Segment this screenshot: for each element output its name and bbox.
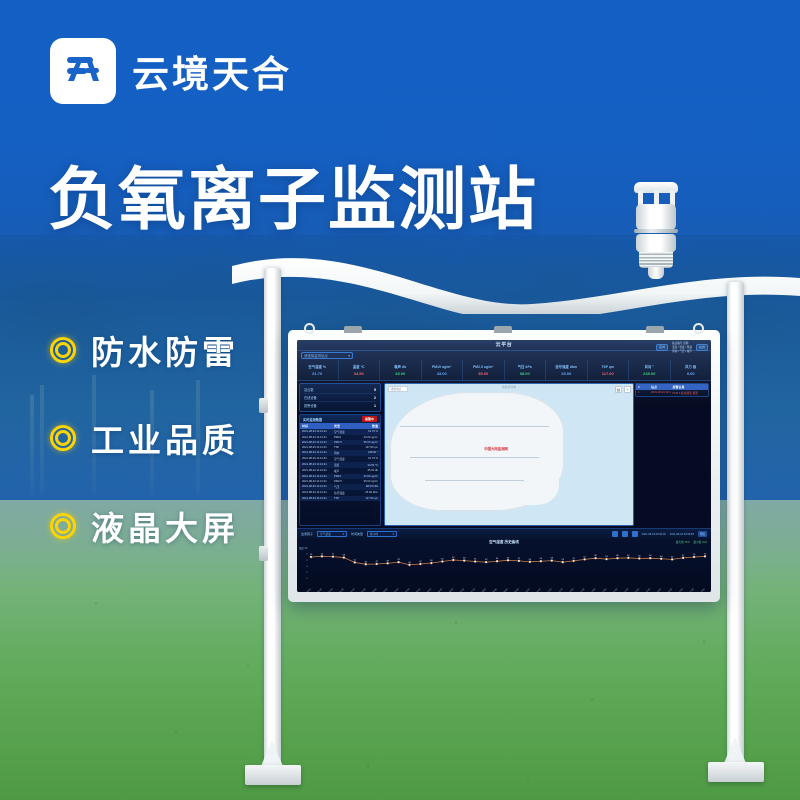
metric-cell-5: 气压 kPa98.00 [505, 360, 547, 380]
dashboard-screen: 云平台 实时 站点编号 名称 温度 / 湿度 / 风速 风向 / 气压 / 噪声… [297, 340, 711, 592]
date-start[interactable]: 2021-08-23 00:00:00 [642, 533, 666, 536]
svg-text:07:30: 07:30 [471, 588, 477, 592]
header-info-2: 风向 / 气压 / 噪声 [672, 350, 692, 353]
feature-item-1: 工业品质 [50, 413, 239, 463]
header-badge-live[interactable]: 实时 [656, 344, 668, 351]
metric-value: 238.00 [629, 371, 670, 376]
post-bracket-lower [259, 546, 268, 561]
header-info-grid: 站点编号 名称 温度 / 湿度 / 风速 风向 / 气压 / 噪声 [672, 342, 692, 353]
period-select-value: 按小时 [370, 532, 378, 537]
history-chart-section: 监测因子 空气湿度 ▾ 时间类型 按小时 ▾ [297, 528, 711, 592]
factor-select[interactable]: 空气湿度 ▾ [317, 531, 347, 537]
station-select-value: 请选择监测站点 [304, 353, 328, 359]
svg-text:44: 44 [408, 562, 411, 564]
svg-text:59: 59 [507, 557, 510, 559]
metric-cell-9: 风力 级0.00 [671, 360, 712, 380]
plus-icon[interactable]: + [624, 386, 631, 393]
svg-text:01:00: 01:00 [329, 588, 335, 592]
feature-label: 防水防雷 [91, 326, 239, 374]
stat-value: 5 [374, 388, 376, 392]
svg-text:57: 57 [518, 558, 521, 560]
brand-lockup: 云境天合 [50, 38, 292, 104]
svg-text:55: 55 [441, 559, 444, 561]
svg-text:47: 47 [375, 561, 378, 563]
feature-label: 工业品质 [91, 414, 239, 462]
layers-icon[interactable]: ▤ [615, 386, 622, 393]
metric-value: 34.50 [339, 371, 380, 376]
map-top-label: 监测点分布 [385, 385, 633, 389]
period-select[interactable]: 按小时 ▾ [367, 531, 397, 537]
metric-value: 98.00 [505, 371, 546, 376]
chart-plot: 7072716852464749534447505560585553565957… [297, 539, 711, 592]
map-zoom-controls: ▤ + [615, 386, 631, 393]
metric-label: 空气湿度 % [297, 364, 338, 369]
svg-text:62: 62 [583, 556, 586, 558]
svg-text:14:00: 14:00 [613, 588, 619, 592]
period-label: 时间类型 [351, 532, 363, 536]
map-column: 监测点分布 搜索地点 中国大陆监测网 ▤ + [383, 381, 635, 528]
svg-text:05:00: 05:00 [416, 588, 422, 592]
ring-bullet-icon [50, 425, 76, 451]
svg-text:01:30: 01:30 [340, 588, 346, 592]
header-info-0: 站点编号 名称 [672, 342, 692, 345]
export-button[interactable]: 导出 [698, 531, 707, 537]
feature-item-2: 液晶大屏 [50, 501, 239, 551]
svg-text:17:00: 17:00 [679, 588, 685, 592]
lcd-screen-frame: 云平台 实时 站点编号 名称 温度 / 湿度 / 风速 风向 / 气压 / 噪声… [288, 330, 720, 602]
header-info-1: 温度 / 湿度 / 风速 [672, 346, 692, 349]
svg-text:14:30: 14:30 [624, 588, 630, 592]
svg-text:06:30: 06:30 [449, 588, 455, 592]
svg-text:16:30: 16:30 [668, 588, 674, 592]
stat-value: 2 [374, 396, 376, 400]
table-rows: 2021-08-23 11:12:21空气湿度61.70 %2021-08-23… [300, 429, 380, 525]
svg-text:64: 64 [660, 556, 663, 558]
metric-label: 信号强度 dbm [546, 364, 587, 369]
realtime-data-card: 实时监测数据 报警中 时间 类型 数值 2021-08-23 11:12:21空… [299, 414, 381, 526]
status-badge: 报警中 [362, 416, 377, 422]
chevron-down-icon: ▾ [348, 353, 350, 359]
svg-text:06:00: 06:00 [438, 588, 444, 592]
metric-label: TSP ųm [588, 365, 629, 369]
realtime-data-header: 实时监测数据 报警中 [300, 415, 380, 423]
alarm-row[interactable]: 12021-08-23 11:12:21PM2.5 超出阈值 报警 [636, 390, 708, 396]
factor-label: 监测因子 [301, 532, 313, 536]
svg-text:16:00: 16:00 [657, 588, 663, 592]
svg-text:09:00: 09:00 [504, 588, 510, 592]
metric-value: 45.00 [380, 371, 421, 376]
bar-chart-icon[interactable] [622, 531, 628, 537]
svg-text:49: 49 [386, 560, 389, 562]
svg-text:00:00: 00:00 [307, 588, 313, 592]
yunjing-logo-icon [61, 49, 105, 93]
svg-text:53: 53 [562, 559, 565, 561]
metric-cell-8: 风向 °238.00 [629, 360, 671, 380]
svg-text:15:00: 15:00 [635, 588, 641, 592]
svg-text:60: 60 [452, 557, 455, 559]
svg-text:53: 53 [485, 559, 488, 561]
stat-row-0: 站点数5 [304, 386, 376, 393]
svg-text:04:00: 04:00 [394, 588, 400, 592]
svg-text:10:00: 10:00 [526, 588, 532, 592]
table-icon[interactable] [612, 531, 618, 537]
svg-text:67: 67 [682, 555, 685, 557]
ring-bullet-icon [50, 337, 76, 363]
frame-tab-right [646, 326, 664, 333]
svg-text:00:30: 00:30 [318, 588, 324, 592]
metric-value: 35.00 [463, 371, 504, 376]
factor-select-value: 空气湿度 [320, 532, 331, 537]
feature-label: 液晶大屏 [91, 502, 239, 550]
metric-value: 61.70 [297, 371, 338, 376]
map-search-input[interactable]: 搜索地点 [388, 386, 408, 392]
svg-text:05:30: 05:30 [427, 588, 433, 592]
metric-label: PM2.5 ug/m³ [463, 365, 504, 369]
metric-label: 温度 ℃ [339, 364, 380, 369]
svg-text:66: 66 [616, 555, 619, 557]
stats-card: 站点数5在线设备2报警设备1 [299, 383, 381, 412]
alarm-rows: 12021-08-23 11:12:21PM2.5 超出阈值 报警 [636, 390, 708, 396]
svg-text:67: 67 [627, 555, 630, 557]
base-gusset-right [724, 737, 746, 763]
svg-text:12:00: 12:00 [569, 588, 575, 592]
poster-canvas: 云平台 实时 站点编号 名称 温度 / 湿度 / 风速 风向 / 气压 / 噪声… [0, 0, 800, 800]
map-center-label: 中国大陆监测网 [484, 446, 508, 451]
svg-text:52: 52 [354, 559, 357, 561]
base-gusset-left [261, 740, 283, 766]
map-widget[interactable]: 监测点分布 搜索地点 中国大陆监测网 ▤ + [384, 383, 634, 526]
svg-text:13:00: 13:00 [591, 588, 597, 592]
svg-text:72: 72 [704, 553, 707, 555]
support-post-left [264, 268, 281, 773]
svg-text:62: 62 [671, 556, 674, 558]
brand-name: 云境天合 [132, 44, 292, 98]
svg-text:71: 71 [332, 554, 335, 556]
history-chart: 空气湿度 历史曲线 最大值 78.0 最小值 41.0 湿度 % 7072716… [297, 539, 711, 592]
svg-text:65: 65 [638, 556, 641, 558]
svg-text:02:30: 02:30 [361, 588, 367, 592]
svg-text:02:00: 02:00 [351, 588, 357, 592]
svg-text:63: 63 [605, 556, 608, 558]
metric-value: 25.00 [546, 371, 587, 376]
stat-row-1: 在线设备2 [304, 393, 376, 401]
svg-text:58: 58 [551, 558, 554, 560]
alarm-column: # 站点 报警信息 12021-08-23 11:12:21PM2.5 超出阈值… [635, 381, 711, 528]
svg-text:66: 66 [594, 555, 597, 557]
line-chart-icon[interactable] [632, 531, 638, 537]
header-right-cluster: 实时 站点编号 名称 温度 / 湿度 / 风速 风向 / 气压 / 噪声 在线 [656, 342, 708, 353]
svg-text:12:30: 12:30 [580, 588, 586, 592]
svg-text:08:00: 08:00 [482, 588, 488, 592]
svg-text:66: 66 [649, 555, 652, 557]
svg-text:03:00: 03:00 [372, 588, 378, 592]
header-badge-online[interactable]: 在线 [696, 344, 708, 351]
dashboard-body: 站点数5在线设备2报警设备1 实时监测数据 报警中 时间 类型 数值 [297, 381, 711, 528]
svg-text:70: 70 [693, 554, 696, 556]
metric-label: 气压 kPa [505, 364, 546, 369]
svg-text:13:30: 13:30 [602, 588, 608, 592]
feature-item-0: 防水防雷 [50, 325, 239, 375]
page-title: 负氧离子监测站 [48, 144, 538, 243]
svg-text:47: 47 [419, 561, 422, 563]
svg-text:50: 50 [430, 560, 433, 562]
base-plate-left [245, 765, 301, 785]
svg-text:03:30: 03:30 [383, 588, 389, 592]
metric-cell-7: TSP ųm117.00 [588, 360, 630, 380]
svg-text:54: 54 [529, 559, 532, 561]
dashboard-title: 云平台 [297, 341, 711, 348]
metric-value: 43.00 [422, 371, 463, 376]
ring-bullet-icon [50, 513, 76, 539]
svg-text:55: 55 [474, 559, 477, 561]
svg-text:46: 46 [365, 561, 368, 563]
svg-text:11:30: 11:30 [559, 588, 564, 592]
date-end[interactable]: 2021-08-23 23:59:59 [670, 533, 694, 536]
svg-text:56: 56 [540, 558, 543, 560]
svg-text:07:00: 07:00 [460, 588, 466, 592]
stat-name: 在线设备 [304, 395, 317, 400]
left-column: 站点数5在线设备2报警设备1 实时监测数据 报警中 时间 类型 数值 [297, 381, 383, 528]
metric-cell-0: 空气湿度 %61.70 [297, 360, 339, 380]
chevron-down-icon: ▾ [393, 532, 394, 537]
svg-text:09:30: 09:30 [515, 588, 521, 592]
metric-cell-6: 信号强度 dbm25.00 [546, 360, 588, 380]
ultrasonic-weather-sensor [628, 182, 684, 278]
logo-box [50, 38, 116, 104]
svg-text:17:30: 17:30 [690, 588, 696, 592]
post-bracket-upper [259, 398, 268, 413]
svg-text:08:30: 08:30 [493, 588, 499, 592]
dashboard-header: 云平台 实时 站点编号 名称 温度 / 湿度 / 风速 风向 / 气压 / 噪声… [297, 340, 711, 351]
svg-text:72: 72 [321, 553, 324, 555]
metric-cell-2: 噪声 db45.00 [380, 360, 422, 380]
chevron-down-icon: ▾ [343, 532, 344, 537]
hanging-hook-left [304, 323, 315, 334]
hanging-hook-right [693, 323, 704, 334]
metric-cell-1: 温度 ℃34.50 [339, 360, 381, 380]
metric-label: 风向 ° [629, 364, 670, 369]
svg-text:18:00: 18:00 [701, 588, 707, 592]
metrics-row: 空气湿度 %61.70温度 ℃34.50噪声 db45.00PM10 ug/m³… [297, 351, 711, 381]
frame-tab-left [344, 326, 362, 333]
svg-text:58: 58 [463, 558, 466, 560]
svg-text:15:30: 15:30 [646, 588, 652, 592]
wave-canopy [232, 248, 800, 314]
svg-text:56: 56 [496, 558, 499, 560]
svg-text:53: 53 [397, 559, 400, 561]
metric-cell-4: PM2.5 ug/m³35.00 [463, 360, 505, 380]
svg-text:10:30: 10:30 [537, 588, 543, 592]
metric-value: 0.00 [671, 371, 712, 376]
svg-text:57: 57 [572, 558, 575, 560]
stat-name: 站点数 [304, 387, 314, 392]
svg-text:04:30: 04:30 [405, 588, 411, 592]
alarm-panel: # 站点 报警信息 12021-08-23 11:12:21PM2.5 超出阈值… [635, 383, 709, 397]
metric-label: PM10 ug/m³ [422, 365, 463, 369]
realtime-data-title: 实时监测数据 [303, 417, 322, 422]
svg-text:70: 70 [310, 554, 313, 556]
station-select[interactable]: 请选择监测站点 ▾ [301, 352, 353, 359]
stat-row-2: 报警设备1 [304, 401, 376, 409]
chart-toolbar: 监测因子 空气湿度 ▾ 时间类型 按小时 ▾ [297, 529, 711, 539]
stat-name: 报警设备 [304, 403, 317, 408]
svg-text:11:00: 11:00 [548, 588, 553, 592]
feature-list: 防水防雷工业品质液晶大屏 [50, 325, 239, 589]
support-post-right [727, 282, 744, 774]
metric-value: 117.00 [588, 371, 629, 376]
metric-cell-3: PM10 ug/m³43.00 [422, 360, 464, 380]
metric-label: 风力 级 [671, 364, 712, 369]
table-row[interactable]: 2021-08-23 11:12:21TSP117.00 ųm [300, 496, 380, 501]
stat-value: 1 [374, 404, 376, 408]
metric-label: 噪声 db [380, 364, 421, 369]
svg-text:68: 68 [343, 555, 346, 557]
frame-tab-center [494, 326, 512, 333]
base-plate-right [708, 762, 764, 782]
